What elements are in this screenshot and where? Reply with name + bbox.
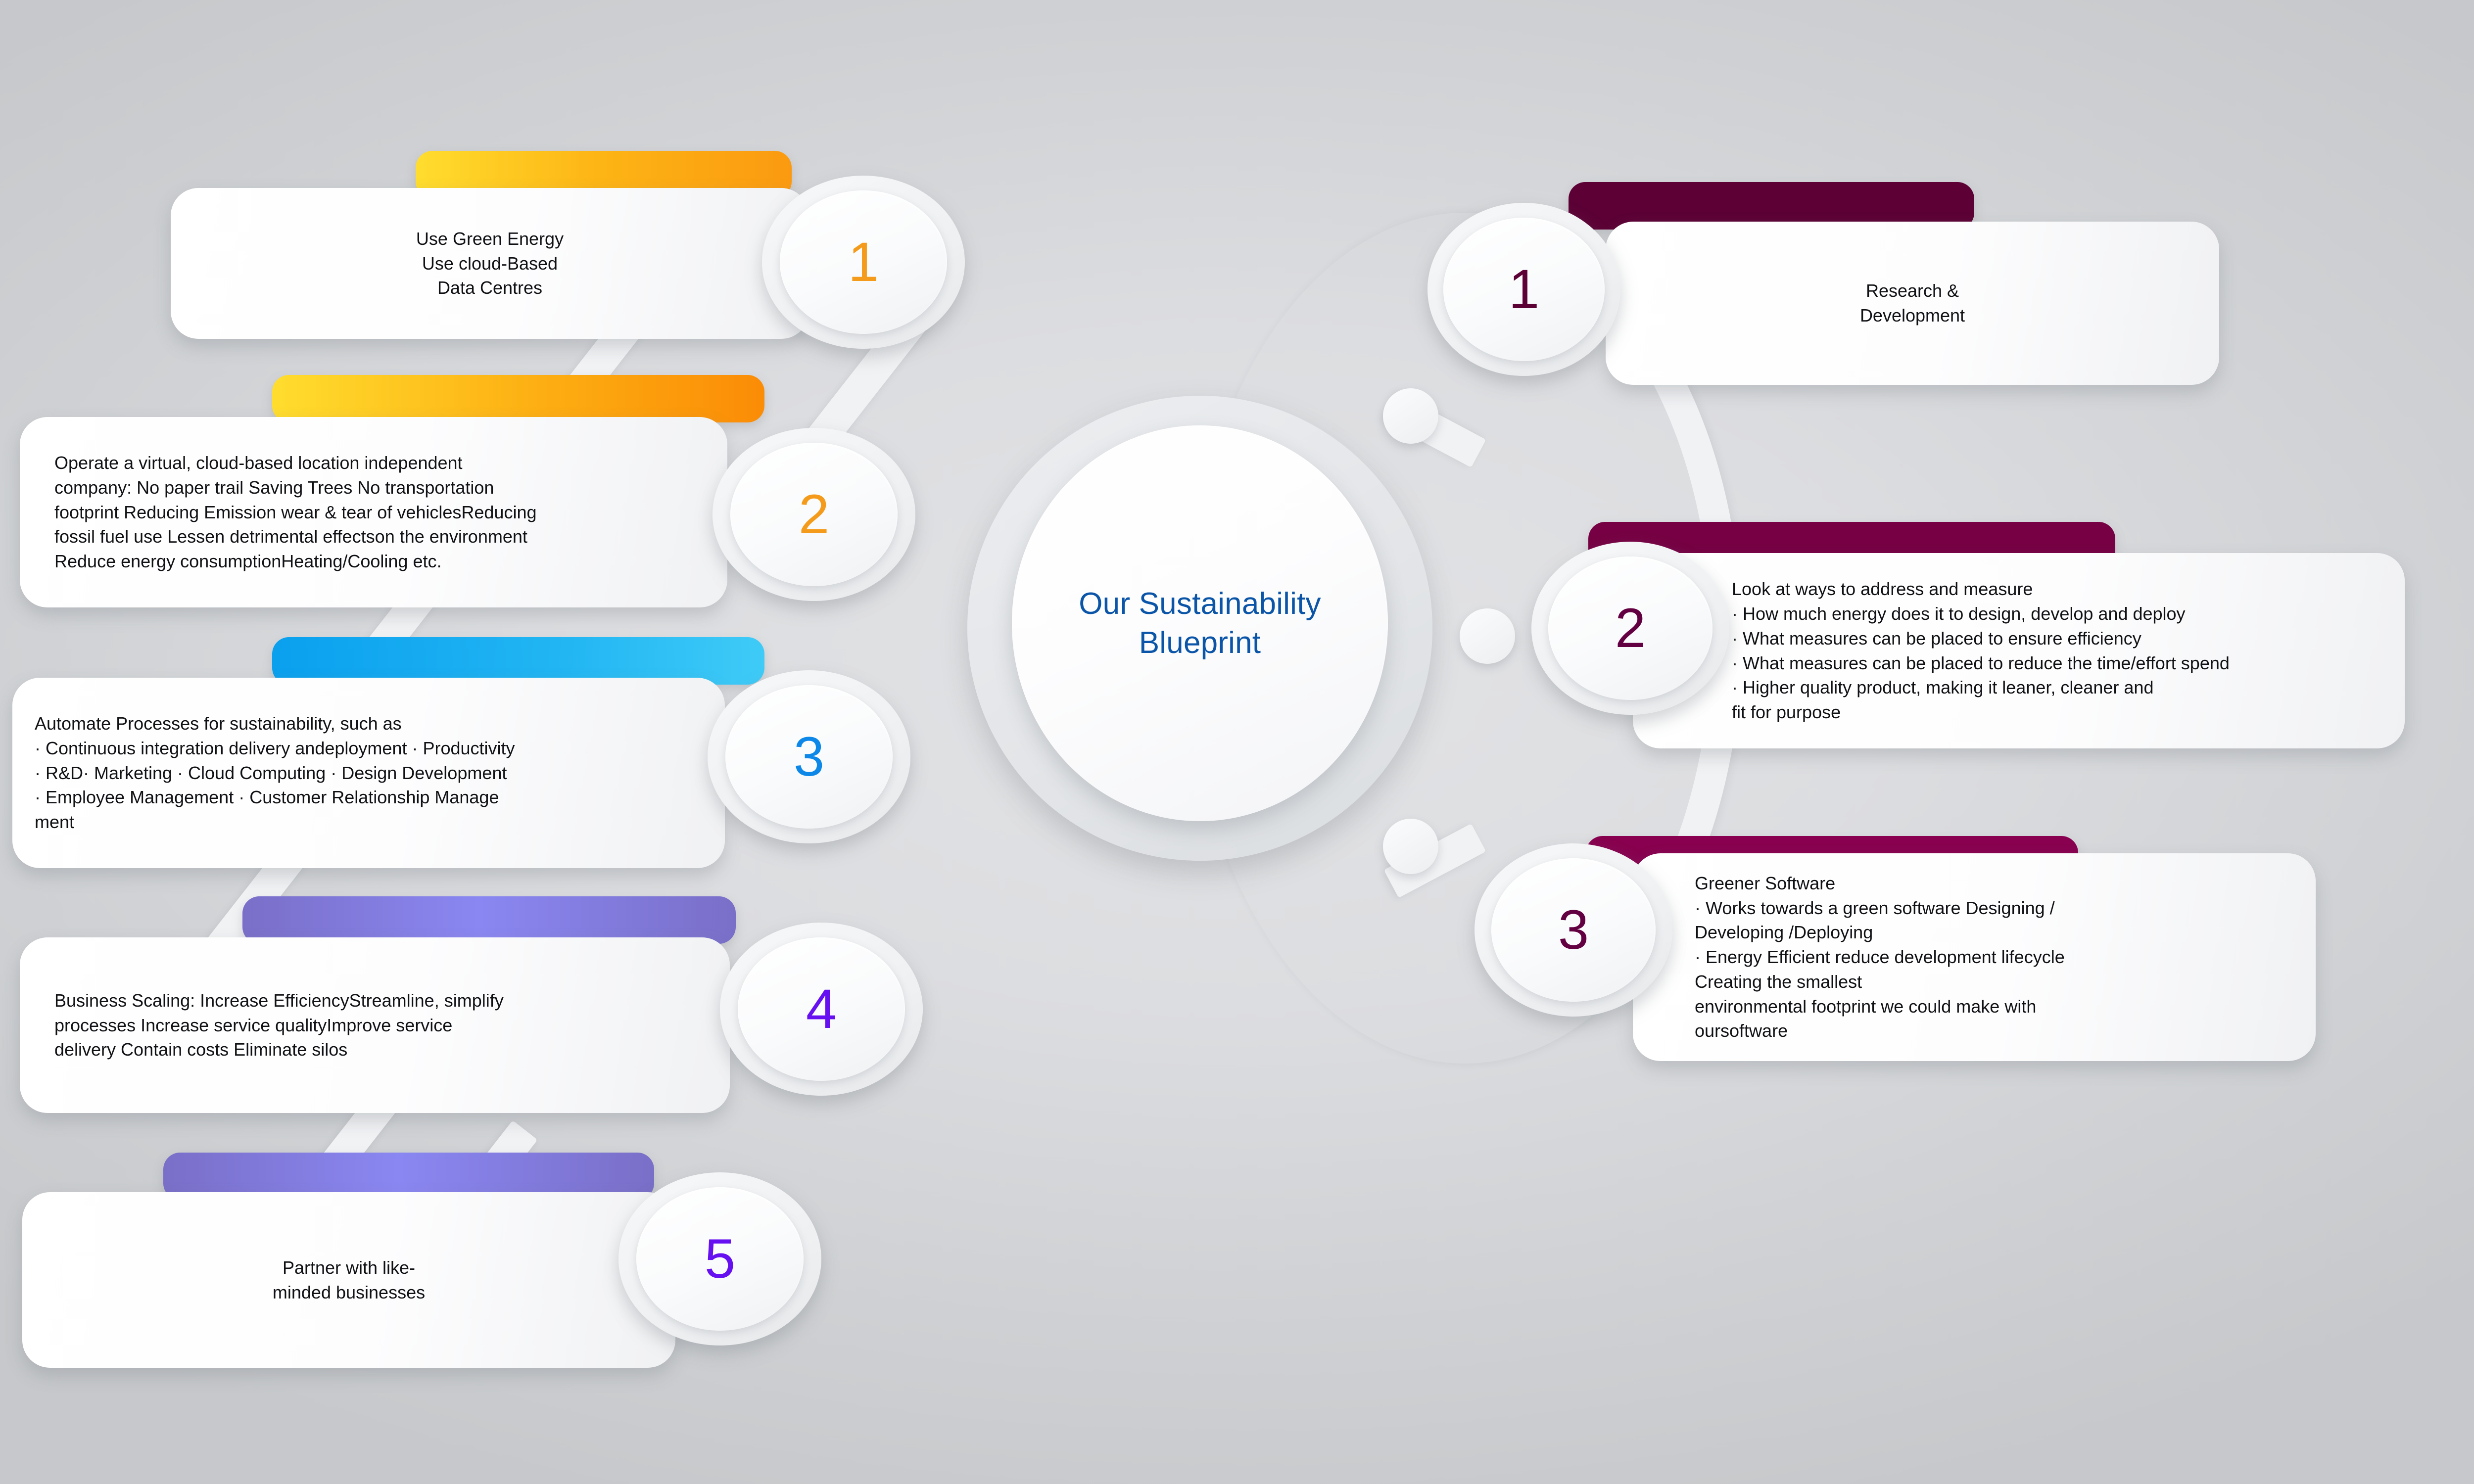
left-card-3-badge-inner: 3	[725, 685, 893, 829]
right-card-2-number: 2	[1615, 601, 1646, 656]
left-card-2-badge[interactable]: 2	[713, 428, 915, 601]
left-card-1-panel: Use Green Energy Use cloud-Based Data Ce…	[171, 188, 809, 339]
left-card-2-accent-bar	[272, 375, 764, 422]
left-card-3-number: 3	[794, 729, 824, 785]
right-card-3-panel: Greener Software · Works towards a green…	[1633, 853, 2316, 1061]
hub-title-line-1: Our Sustainability	[1079, 584, 1321, 623]
left-card-4-badge-inner: 4	[738, 937, 905, 1081]
left-card-1-badge[interactable]: 1	[762, 176, 965, 349]
left-card-5-badge-inner: 5	[636, 1187, 804, 1331]
right-card-2-badge-inner: 2	[1548, 556, 1713, 700]
right-card-1-badge-inner: 1	[1443, 218, 1605, 361]
right-card-3-number: 3	[1558, 902, 1589, 958]
left-card-1-badge-inner: 1	[780, 190, 947, 334]
left-card-2-badge-inner: 2	[730, 443, 898, 586]
right-card-1-badge[interactable]: 1	[1427, 203, 1620, 376]
connector-node-top	[1383, 388, 1438, 444]
left-card-3-badge[interactable]: 3	[708, 670, 910, 843]
left-card-3-panel: Automate Processes for sustainability, s…	[12, 678, 725, 868]
connector-node-middle	[1460, 608, 1515, 664]
left-card-5-badge[interactable]: 5	[618, 1172, 821, 1345]
right-card-2-badge[interactable]: 2	[1531, 542, 1729, 715]
left-card-2-text: Operate a virtual, cloud-based location …	[20, 451, 537, 573]
right-card-3-badge-inner: 3	[1491, 858, 1656, 1002]
hub-title-line-2: Blueprint	[1079, 623, 1321, 662]
infographic-canvas: Our Sustainability Blueprint Use Green E…	[0, 0, 2474, 1484]
hub-title: Our Sustainability Blueprint	[1079, 584, 1321, 663]
left-card-5-number: 5	[705, 1231, 735, 1287]
right-card-2-panel: Look at ways to address and measure · Ho…	[1633, 553, 2405, 748]
left-card-2-number: 2	[799, 487, 829, 542]
left-card-4-number: 4	[806, 981, 837, 1037]
left-card-4-panel: Business Scaling: Increase EfficiencyStr…	[20, 937, 730, 1113]
right-card-1-panel: Research & Development	[1606, 222, 2219, 385]
left-card-5-text: Partner with like- minded businesses	[273, 1255, 425, 1304]
right-card-1-text: Research & Development	[1860, 278, 1965, 327]
right-card-3-text: Greener Software · Works towards a green…	[1633, 871, 2065, 1043]
left-card-2-panel: Operate a virtual, cloud-based location …	[20, 417, 727, 607]
left-card-3-text: Automate Processes for sustainability, s…	[12, 711, 515, 834]
left-card-4-accent-bar	[242, 896, 736, 944]
connector-node-bottom	[1383, 819, 1438, 874]
hub-circle[interactable]: Our Sustainability Blueprint	[1012, 425, 1388, 821]
left-card-1-number: 1	[848, 234, 879, 290]
right-card-1-number: 1	[1509, 262, 1539, 317]
left-card-1-text: Use Green Energy Use cloud-Based Data Ce…	[416, 227, 564, 300]
right-card-3-badge[interactable]: 3	[1475, 843, 1672, 1017]
left-card-4-text: Business Scaling: Increase EfficiencyStr…	[20, 988, 504, 1062]
left-card-5-panel: Partner with like- minded businesses	[22, 1192, 675, 1368]
left-card-4-badge[interactable]: 4	[720, 923, 923, 1096]
